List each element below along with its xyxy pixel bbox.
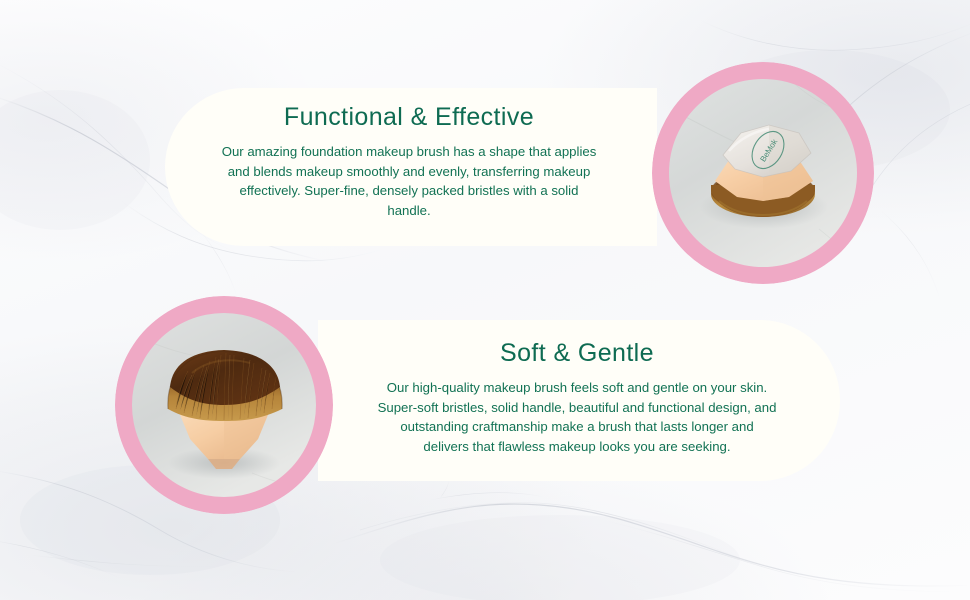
feature-banner: Functional & Effective Our amazing found… [0, 0, 970, 600]
product-image-2 [132, 313, 316, 497]
product-photo-top-view: BeMok [652, 62, 874, 284]
feature-title-soft: Soft & Gentle [500, 338, 654, 368]
feature-title-functional: Functional & Effective [284, 102, 534, 132]
feature-card-soft: Soft & Gentle Our high-quality makeup br… [318, 320, 840, 481]
product-image-1: BeMok [669, 79, 857, 267]
product-photo-bristle-view [115, 296, 333, 514]
feature-body-functional: Our amazing foundation makeup brush has … [219, 142, 599, 220]
feature-card-functional: Functional & Effective Our amazing found… [165, 88, 657, 246]
feature-body-soft: Our high-quality makeup brush feels soft… [377, 378, 777, 456]
